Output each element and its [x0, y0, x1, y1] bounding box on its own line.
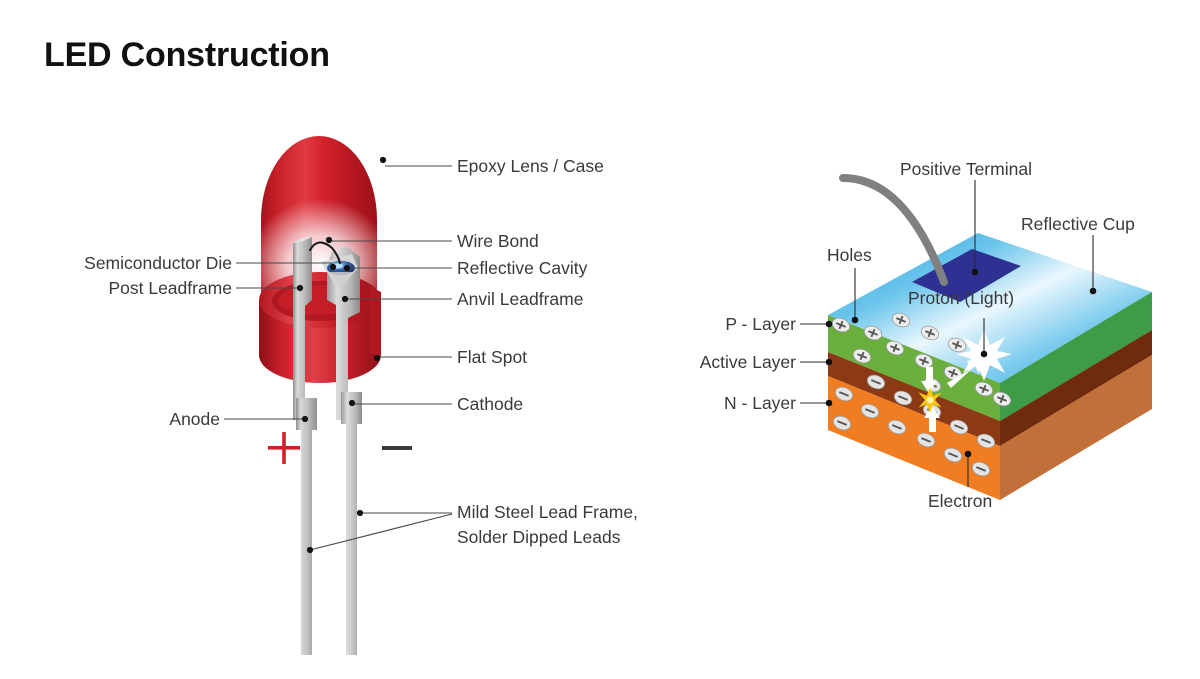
- label-anode: Anode: [0, 408, 220, 431]
- flat-spot-face: [369, 286, 381, 357]
- label-n-layer: N - Layer: [600, 392, 796, 415]
- dot-active-layer: [826, 359, 833, 366]
- label-wire-bond: Wire Bond: [457, 230, 539, 253]
- label-proton-light: Proton (Light): [908, 287, 1014, 310]
- dot-electron: [965, 451, 972, 458]
- dot-p-layer: [826, 321, 833, 328]
- dot-anvil-leadframe: [342, 296, 348, 302]
- dot-semiconductor-die: [330, 264, 336, 270]
- label-reflective-cup: Reflective Cup: [1021, 213, 1135, 236]
- dot-holes: [852, 317, 859, 324]
- label-epoxy-lens-case: Epoxy Lens / Case: [457, 155, 604, 178]
- label-cathode: Cathode: [457, 393, 523, 416]
- led-lamp-graphic: [224, 136, 452, 655]
- label-anvil-leadframe: Anvil Leadframe: [457, 288, 583, 311]
- diagram-artwork: [0, 0, 1200, 679]
- dot-proton-light: [981, 351, 988, 358]
- label-mild-steel-line1: Mild Steel Lead Frame,: [457, 500, 638, 525]
- polarity-plus-symbol: [268, 432, 300, 464]
- label-reflective-cavity: Reflective Cavity: [457, 257, 587, 280]
- dot-reflective-cavity: [344, 265, 350, 271]
- label-semiconductor-die: Semiconductor Die: [0, 252, 232, 275]
- dot-flat-spot: [374, 355, 380, 361]
- anode-lead: [296, 398, 317, 655]
- dot-mild-steel-upper: [357, 510, 363, 516]
- polarity-minus-symbol: [382, 446, 412, 450]
- cathode-lead: [341, 392, 362, 655]
- dot-mild-steel-lower: [307, 547, 313, 553]
- label-mild-steel-lead-frame: Mild Steel Lead Frame, Solder Dipped Lea…: [457, 500, 638, 550]
- label-post-leadframe: Post Leadframe: [0, 277, 232, 300]
- dot-wire-bond: [326, 237, 332, 243]
- label-electron: Electron: [928, 490, 992, 513]
- dot-n-layer: [826, 400, 833, 407]
- leader-mild-steel-b: [310, 514, 452, 550]
- dot-anode: [302, 416, 308, 422]
- label-flat-spot: Flat Spot: [457, 346, 527, 369]
- led-construction-diagram: LED Construction: [0, 0, 1200, 679]
- label-p-layer: P - Layer: [600, 313, 796, 336]
- dot-reflective-cup: [1090, 288, 1097, 295]
- label-positive-terminal: Positive Terminal: [900, 158, 1032, 181]
- label-active-layer: Active Layer: [600, 351, 796, 374]
- dot-post-leadframe: [297, 285, 303, 291]
- dot-positive-terminal: [972, 269, 979, 276]
- label-mild-steel-line2: Solder Dipped Leads: [457, 525, 638, 550]
- dot-epoxy-lens: [380, 157, 386, 163]
- label-holes: Holes: [827, 244, 872, 267]
- dot-cathode: [349, 400, 355, 406]
